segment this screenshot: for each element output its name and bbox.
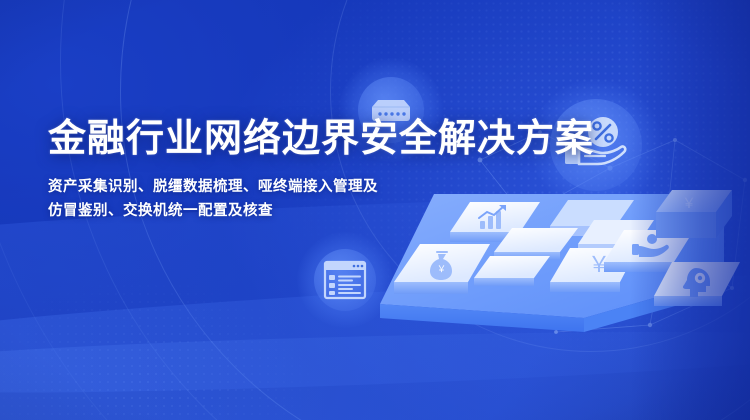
svg-text:￥: ￥	[437, 264, 446, 274]
document-checklist-icon	[323, 260, 367, 300]
banner-text-block: 金融行业网络边界安全解决方案 资产采集识别、脱缰数据梳理、哑终端接入管理及 仿冒…	[48, 118, 594, 224]
page-subtitle: 资产采集识别、脱缰数据梳理、哑终端接入管理及 仿冒鉴别、交换机统一配置及核查	[48, 175, 594, 225]
tile-yen-block: ￥	[656, 190, 732, 238]
finance-network-security-banner: ￥ ￥ ￥	[0, 0, 750, 420]
yen-symbol-icon: ￥	[682, 195, 696, 211]
page-title: 金融行业网络边界安全解决方案	[48, 118, 594, 161]
